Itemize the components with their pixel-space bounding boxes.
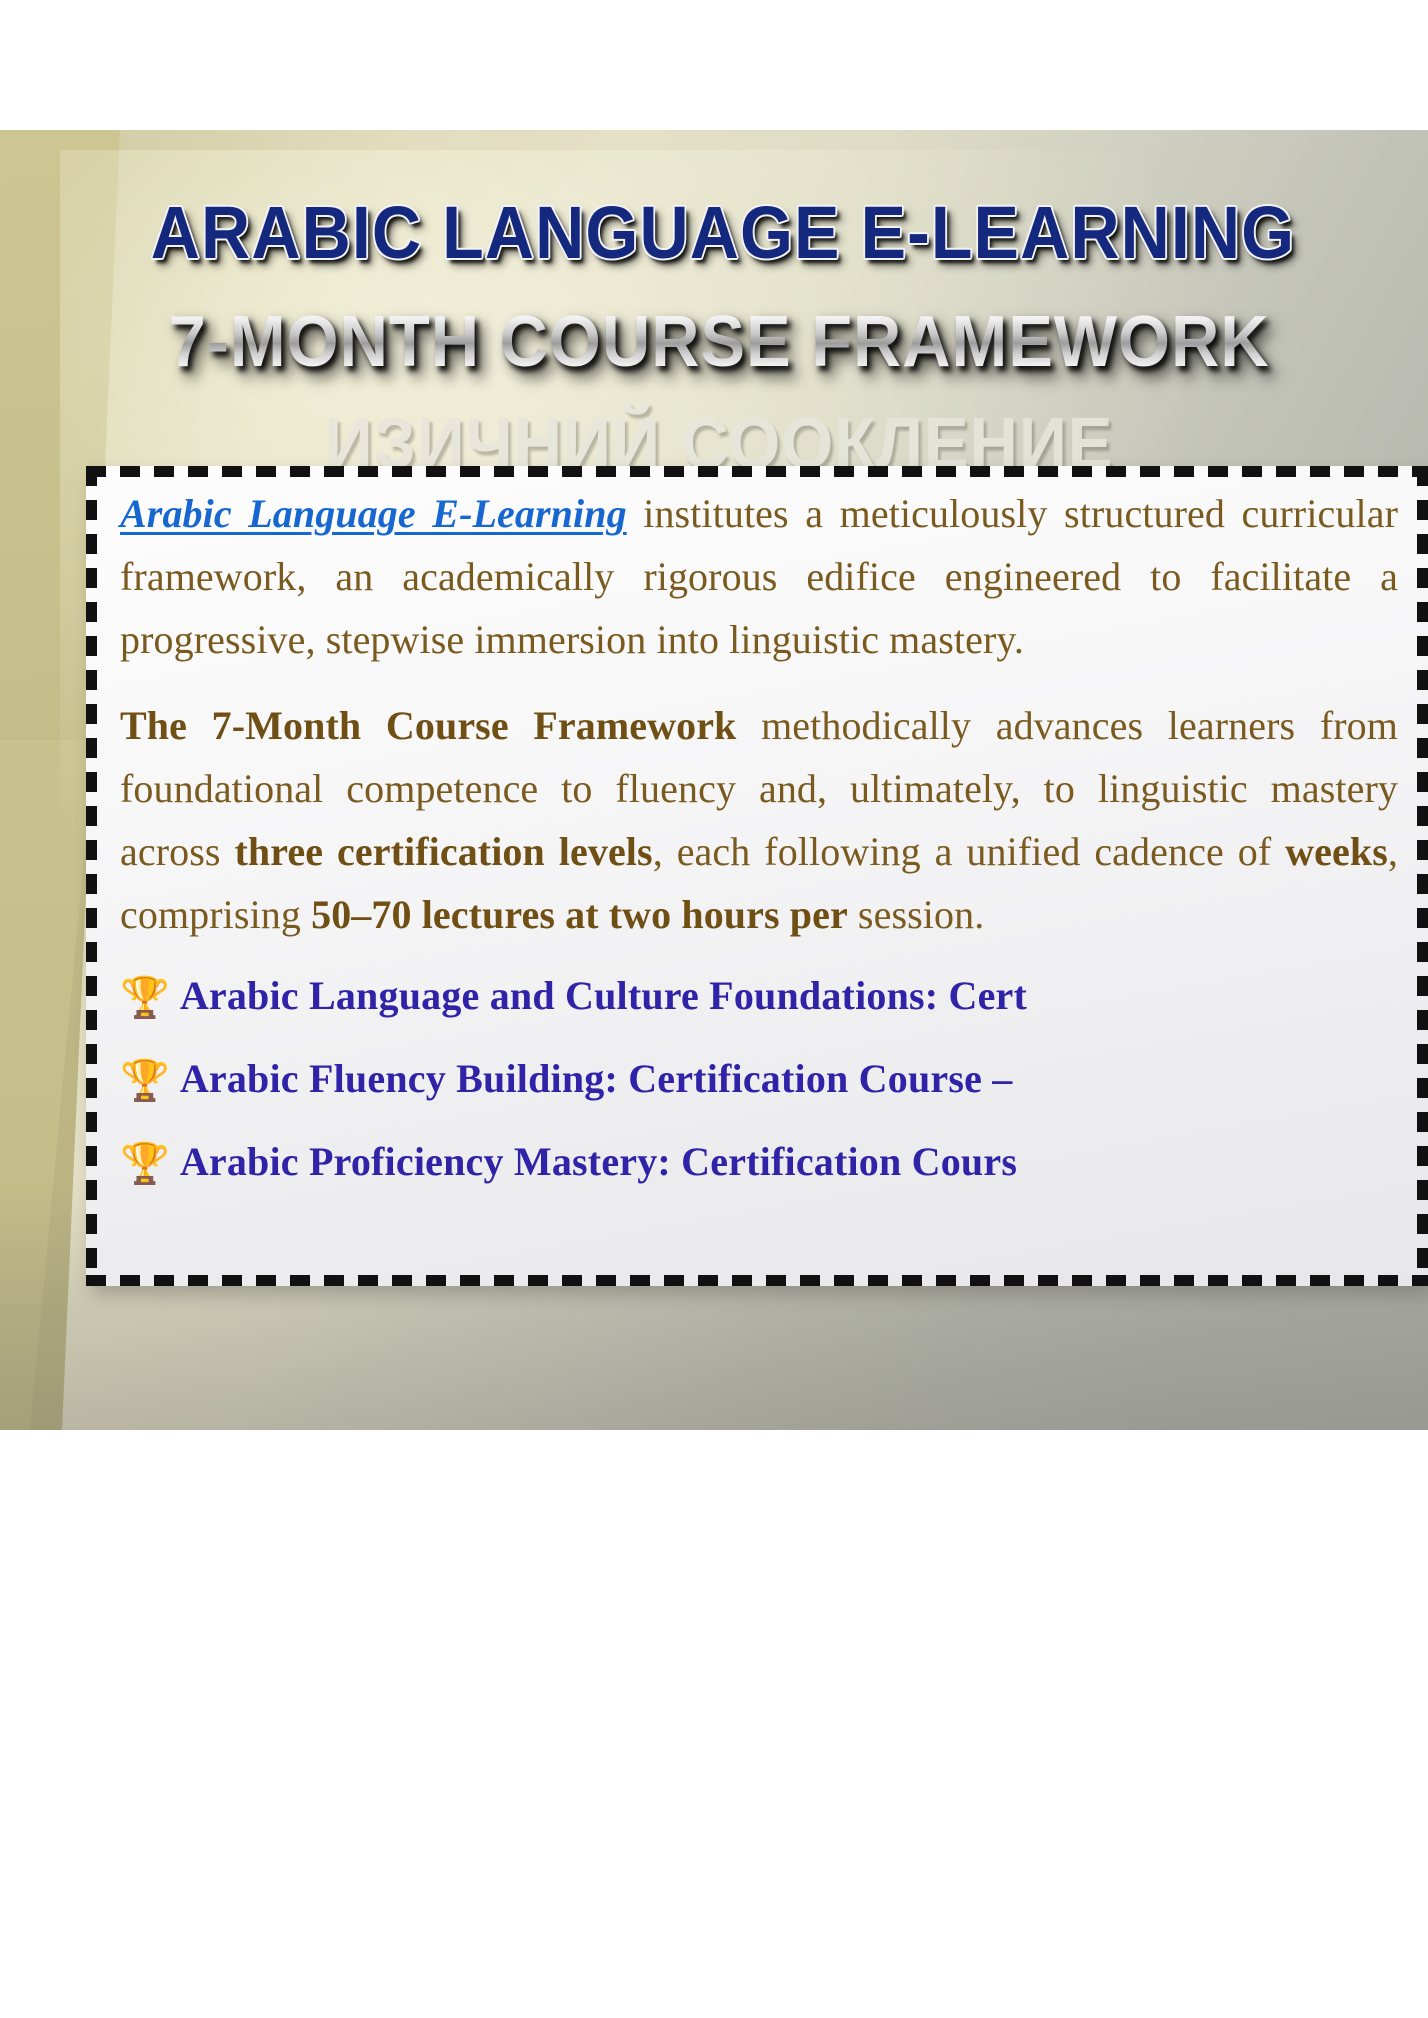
certification-label: Arabic Proficiency Mastery: Certificatio…	[180, 1138, 1017, 1185]
paragraph-framework: The 7-Month Course Framework methodicall…	[120, 694, 1398, 947]
framework-text-b: , each following a unified cadence of	[653, 829, 1285, 874]
trophy-icon: 🏆	[120, 1061, 170, 1101]
paragraph-intro: Arabic Language E-Learning institutes a …	[120, 482, 1398, 672]
framework-lead-bold: The 7-Month Course Framework	[120, 703, 736, 748]
certification-label: Arabic Language and Culture Foundations:…	[180, 972, 1027, 1019]
slide-subtitle: 7-MONTH COURSE FRAMEWORK	[60, 306, 1379, 378]
certification-list: 🏆 Arabic Language and Culture Foundation…	[120, 972, 1398, 1185]
list-item[interactable]: 🏆 Arabic Fluency Building: Certification…	[120, 1055, 1398, 1102]
content-card: Arabic Language E-Learning institutes a …	[86, 466, 1428, 1286]
framework-weeks-bold: weeks	[1285, 829, 1388, 874]
trophy-icon: 🏆	[120, 978, 170, 1018]
framework-lectures-bold: 50–70 lectures at two hours per	[311, 892, 848, 937]
trophy-icon: 🏆	[120, 1144, 170, 1184]
certification-label: Arabic Fluency Building: Certification C…	[180, 1055, 1013, 1102]
list-item[interactable]: 🏆 Arabic Proficiency Mastery: Certificat…	[120, 1138, 1398, 1185]
heading-group: ARABIC LANGUAGE E-LEARNING 7-MONTH COURS…	[0, 196, 1428, 480]
brand-link[interactable]: Arabic Language E-Learning	[120, 491, 627, 536]
slide-title: ARABIC LANGUAGE E-LEARNING	[74, 196, 1371, 270]
framework-levels-bold: three certification levels	[234, 829, 652, 874]
slide-canvas: ARABIC LANGUAGE E-LEARNING 7-MONTH COURS…	[0, 0, 1428, 2018]
list-item[interactable]: 🏆 Arabic Language and Culture Foundation…	[120, 972, 1398, 1019]
framework-text-d: session.	[848, 892, 984, 937]
